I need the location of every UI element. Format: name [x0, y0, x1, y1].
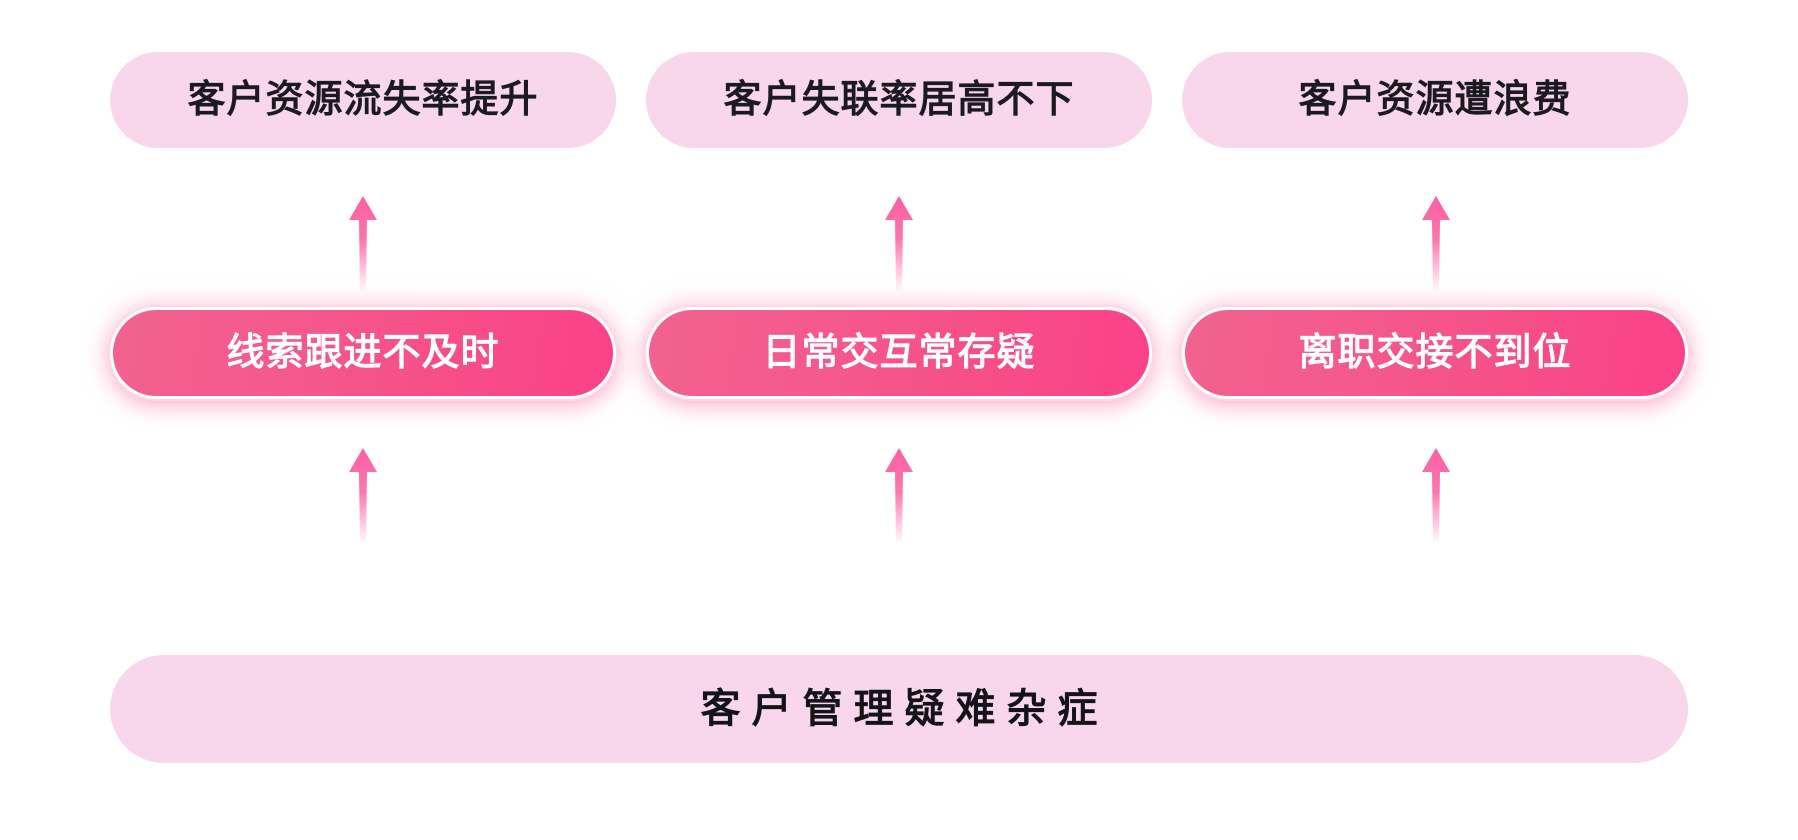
- outcomes-row: 客户资源流失率提升 客户失联率居高不下 客户资源遭浪费: [110, 52, 1688, 148]
- outcome-pill-1[interactable]: 客户资源流失率提升: [110, 52, 616, 148]
- outcome-pill-3[interactable]: 客户资源遭浪费: [1182, 52, 1688, 148]
- cause-pill-1[interactable]: 线索跟进不及时: [110, 307, 616, 399]
- root-problem-bar[interactable]: 客户管理疑难杂症: [110, 655, 1688, 763]
- outcome-pill-3-label: 客户资源遭浪费: [1298, 81, 1571, 119]
- causes-row: 线索跟进不及时 日常交互常存疑 离职交接不到位: [110, 305, 1688, 401]
- cause-pill-2[interactable]: 日常交互常存疑: [646, 307, 1152, 399]
- arrow-root-to-cause-3-icon: [1419, 448, 1453, 544]
- cause-pill-2-label: 日常交互常存疑: [762, 334, 1035, 372]
- outcome-pill-1-label: 客户资源流失率提升: [187, 81, 538, 119]
- arrow-cause-to-outcome-3-icon: [1419, 196, 1453, 292]
- cause-pill-3[interactable]: 离职交接不到位: [1182, 307, 1688, 399]
- root-problem-label: 客户管理疑难杂症: [690, 689, 1109, 729]
- cause-pill-3-label: 离职交接不到位: [1298, 334, 1571, 372]
- outcome-pill-2[interactable]: 客户失联率居高不下: [646, 52, 1152, 148]
- outcome-pill-2-label: 客户失联率居高不下: [723, 81, 1074, 119]
- arrow-cause-to-outcome-1-icon: [346, 196, 380, 292]
- arrow-root-to-cause-2-icon: [882, 448, 916, 544]
- arrow-root-to-cause-1-icon: [346, 448, 380, 544]
- cause-pill-1-label: 线索跟进不及时: [226, 334, 499, 372]
- diagram-canvas: 客户资源流失率提升 客户失联率居高不下 客户资源遭浪费: [0, 0, 1798, 840]
- arrow-cause-to-outcome-2-icon: [882, 196, 916, 292]
